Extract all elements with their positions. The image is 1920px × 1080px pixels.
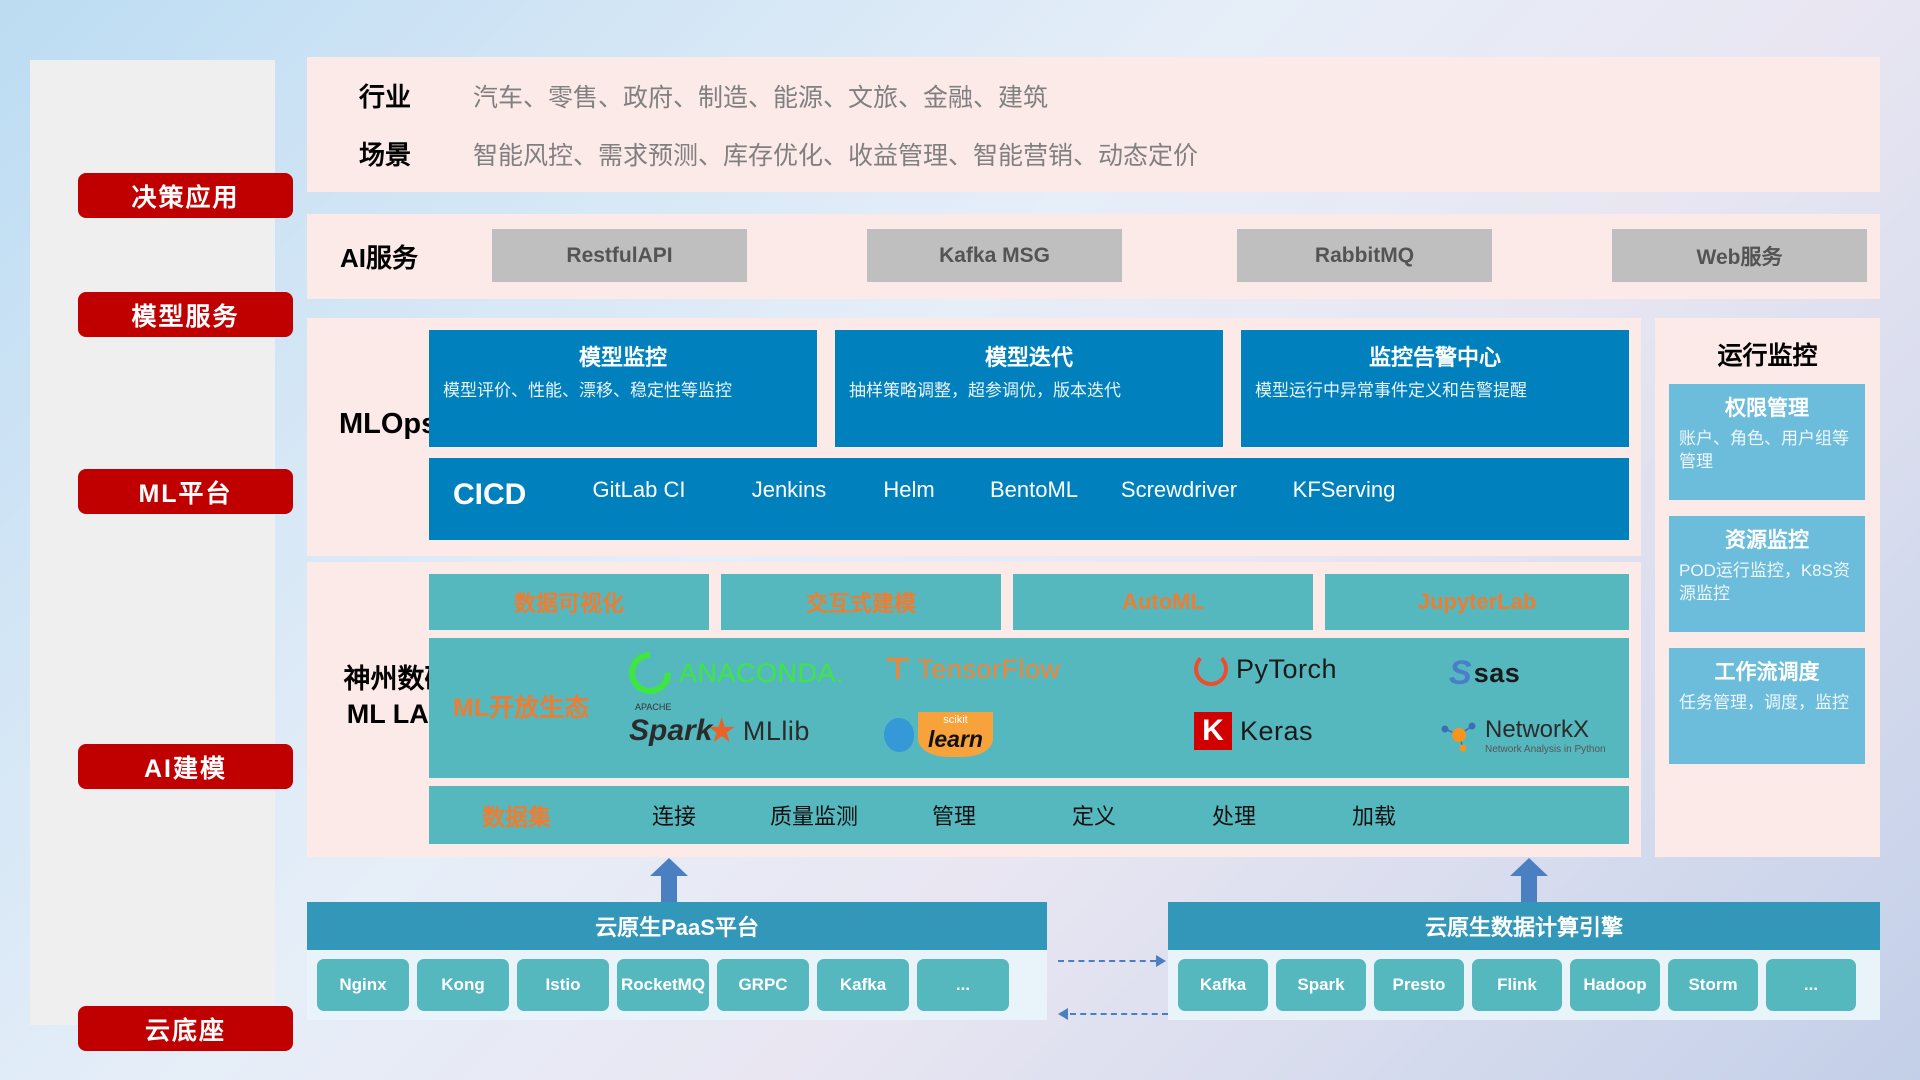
keras-label: Keras (1240, 716, 1313, 747)
sas-icon: S (1449, 654, 1472, 693)
cloud-chip-kong[interactable]: Kong (417, 959, 509, 1011)
mlops-card-model-monitoring[interactable]: 模型监控 模型评价、性能、漂移、稳定性等监控 (429, 330, 817, 447)
layer-tag-ml-platform[interactable]: ML平台 (78, 469, 293, 514)
sas-label: sas (1474, 658, 1521, 689)
cicd-title: CICD (453, 478, 526, 512)
monitor-card-desc: 账户、角色、用户组等管理 (1679, 428, 1855, 474)
dataset-item-define[interactable]: 定义 (1024, 799, 1164, 831)
scikit-card: scikit learn (918, 712, 993, 757)
cicd-item-helm[interactable]: Helm (849, 476, 969, 504)
dashed-arrow-left-icon (1058, 1013, 1168, 1015)
dataset-item-quality[interactable]: 质量监测 (744, 799, 884, 831)
tool-chip-automl[interactable]: AutoML (1013, 574, 1313, 630)
cloud-data-engine-chips: Kafka Spark Presto Flink Hadoop Storm ..… (1168, 950, 1880, 1020)
anaconda-icon (620, 643, 679, 702)
layer-tag-decision-app[interactable]: 决策应用 (78, 173, 293, 218)
mlops-card-title: 模型监控 (443, 340, 803, 372)
spark-apache-label: APACHE (635, 702, 671, 712)
monitor-card-workflow[interactable]: 工作流调度 任务管理，调度，监控 (1669, 648, 1865, 764)
scikit-label: scikit (928, 714, 983, 726)
scene-label: 场景 (325, 135, 445, 172)
mlops-card-alert-center[interactable]: 监控告警中心 模型运行中异常事件定义和告警提醒 (1241, 330, 1629, 447)
scikit-learn-logo: scikit learn (884, 712, 993, 757)
scikit-blob-icon (884, 718, 914, 752)
scene-line: 场景 智能风控、需求预测、库存优化、收益管理、智能营销、动态定价 (325, 135, 1198, 172)
tool-chip-jupyterlab[interactable]: JupyterLab (1325, 574, 1629, 630)
monitor-card-title: 资源监控 (1679, 524, 1855, 554)
mlops-card-title: 监控告警中心 (1255, 340, 1615, 372)
ml-ecosystem-band: ML开放生态 ANACONDA. ⊤ TensorFlow PyTorch S … (429, 638, 1629, 778)
cicd-item-kfserving[interactable]: KFServing (1284, 476, 1404, 504)
ai-chip-kafka-msg[interactable]: Kafka MSG (867, 229, 1122, 282)
engine-chip-kafka[interactable]: Kafka (1178, 959, 1268, 1011)
dataset-item-process[interactable]: 处理 (1164, 799, 1304, 831)
monitor-card-resource[interactable]: 资源监控 POD运行监控，K8S资源监控 (1669, 516, 1865, 632)
pytorch-logo: PyTorch (1194, 652, 1337, 686)
engine-chip-more[interactable]: ... (1766, 959, 1856, 1011)
cloud-paas-chips: Nginx Kong Istio RocketMQ GRPC Kafka ... (307, 950, 1047, 1020)
mlops-card-title: 模型迭代 (849, 340, 1209, 372)
cloud-chip-more[interactable]: ... (917, 959, 1009, 1011)
cicd-item-jenkins[interactable]: Jenkins (729, 476, 849, 504)
ai-service-panel: AI服务 RestfulAPI Kafka MSG RabbitMQ Web服务 (307, 214, 1880, 299)
mlops-card-desc: 模型评价、性能、漂移、稳定性等监控 (443, 380, 803, 403)
architecture-diagram: 决策应用 模型服务 ML平台 AI建模 云底座 行业 汽车、零售、政府、制造、能… (0, 0, 1920, 1080)
industry-values: 汽车、零售、政府、制造、能源、文旅、金融、建筑 (473, 78, 1048, 114)
mlops-card-model-iteration[interactable]: 模型迭代 抽样策略调整，超参调优，版本迭代 (835, 330, 1223, 447)
cicd-item-bentoml[interactable]: BentoML (974, 476, 1094, 504)
anaconda-logo: ANACONDA. (629, 652, 844, 694)
cloud-data-engine-title: 云原生数据计算引擎 (1168, 902, 1880, 950)
keras-icon: K (1194, 712, 1232, 750)
cloud-chip-istio[interactable]: Istio (517, 959, 609, 1011)
sas-logo: S sas (1449, 654, 1520, 693)
left-rail: 决策应用 模型服务 ML平台 AI建模 云底座 (30, 60, 275, 1025)
learn-label: learn (928, 726, 983, 753)
cloud-paas-title: 云原生PaaS平台 (307, 902, 1047, 950)
pytorch-label: PyTorch (1236, 654, 1337, 685)
ai-service-label: AI服务 (340, 238, 418, 275)
networkx-logo: NetworkX Network Analysis in Python (1439, 716, 1606, 755)
networkx-tagline: Network Analysis in Python (1485, 744, 1606, 755)
mllib-label: MLlib (743, 716, 810, 747)
dataset-title: 数据集 (429, 798, 604, 832)
up-arrow-data-engine-icon (1510, 858, 1548, 902)
dataset-item-load[interactable]: 加载 (1304, 799, 1444, 831)
ai-chip-web-service[interactable]: Web服务 (1612, 229, 1867, 282)
ai-modeling-panel: 神州数码 ML LAB 数据可视化 交互式建模 AutoML JupyterLa… (307, 562, 1641, 857)
monitor-card-title: 权限管理 (1679, 392, 1855, 422)
dataset-band: 数据集 连接 质量监测 管理 定义 处理 加载 (429, 786, 1629, 844)
mlops-card-desc: 抽样策略调整，超参调优，版本迭代 (849, 380, 1209, 403)
cloud-data-engine-group: 云原生数据计算引擎 Kafka Spark Presto Flink Hadoo… (1168, 902, 1880, 1020)
mlops-label: MLOps (339, 408, 437, 441)
up-arrow-paas-icon (650, 858, 688, 902)
tensorflow-label: TensorFlow (917, 654, 1060, 685)
ai-chip-restfulapi[interactable]: RestfulAPI (492, 229, 747, 282)
monitor-card-desc: 任务管理，调度，监控 (1679, 692, 1855, 715)
dataset-item-connect[interactable]: 连接 (604, 799, 744, 831)
ai-chip-rabbitmq[interactable]: RabbitMQ (1237, 229, 1492, 282)
cloud-chip-kafka[interactable]: Kafka (817, 959, 909, 1011)
networkx-label: NetworkX (1485, 716, 1606, 744)
monitor-card-title: 工作流调度 (1679, 656, 1855, 686)
cloud-paas-group: 云原生PaaS平台 Nginx Kong Istio RocketMQ GRPC… (307, 902, 1047, 1020)
dataset-item-manage[interactable]: 管理 (884, 799, 1024, 831)
engine-chip-spark[interactable]: Spark (1276, 959, 1366, 1011)
industry-scene-panel: 行业 汽车、零售、政府、制造、能源、文旅、金融、建筑 场景 智能风控、需求预测、… (307, 57, 1880, 192)
monitor-card-permission[interactable]: 权限管理 账户、角色、用户组等管理 (1669, 384, 1865, 500)
engine-chip-flink[interactable]: Flink (1472, 959, 1562, 1011)
ml-ecosystem-title: ML开放生态 (453, 688, 589, 724)
mlops-panel: MLOps 模型监控 模型评价、性能、漂移、稳定性等监控 模型迭代 抽样策略调整… (307, 318, 1641, 556)
cicd-item-gitlab-ci[interactable]: GitLab CI (579, 476, 699, 504)
engine-chip-storm[interactable]: Storm (1668, 959, 1758, 1011)
keras-logo: K Keras (1194, 712, 1313, 750)
runtime-monitor-title: 运行监控 (1655, 336, 1880, 372)
cloud-chip-nginx[interactable]: Nginx (317, 959, 409, 1011)
engine-chip-presto[interactable]: Presto (1374, 959, 1464, 1011)
cloud-chip-rocketmq[interactable]: RocketMQ (617, 959, 709, 1011)
scene-values: 智能风控、需求预测、库存优化、收益管理、智能营销、动态定价 (473, 136, 1198, 172)
pytorch-icon (1194, 652, 1228, 686)
layer-tag-cloud-base[interactable]: 云底座 (78, 1006, 293, 1051)
monitor-card-desc: POD运行监控，K8S资源监控 (1679, 560, 1855, 606)
cicd-item-screwdriver[interactable]: Screwdriver (1119, 476, 1239, 504)
industry-line: 行业 汽车、零售、政府、制造、能源、文旅、金融、建筑 (325, 77, 1048, 114)
runtime-monitor-panel: 运行监控 权限管理 账户、角色、用户组等管理 资源监控 POD运行监控，K8S资… (1655, 318, 1880, 857)
spark-label: Spark (629, 714, 712, 747)
anaconda-label: ANACONDA. (679, 658, 844, 689)
spark-mllib-logo: APACHE Spark ★ MLlib (629, 714, 810, 748)
dashed-arrow-right-icon (1058, 960, 1168, 962)
networkx-graph-icon (1439, 719, 1479, 753)
layer-tag-model-service[interactable]: 模型服务 (78, 292, 293, 337)
mlops-card-desc: 模型运行中异常事件定义和告警提醒 (1255, 380, 1615, 403)
industry-label: 行业 (325, 77, 445, 114)
cloud-chip-grpc[interactable]: GRPC (717, 959, 809, 1011)
cicd-bar: CICD GitLab CI Jenkins Helm BentoML Scre… (429, 458, 1629, 540)
engine-chip-hadoop[interactable]: Hadoop (1570, 959, 1660, 1011)
tool-chip-data-visualization[interactable]: 数据可视化 (429, 574, 709, 630)
tool-chip-interactive-modeling[interactable]: 交互式建模 (721, 574, 1001, 630)
layer-tag-ai-modeling[interactable]: AI建模 (78, 744, 293, 789)
tensorflow-icon: ⊤ (884, 652, 911, 687)
tensorflow-logo: ⊤ TensorFlow (884, 652, 1060, 687)
